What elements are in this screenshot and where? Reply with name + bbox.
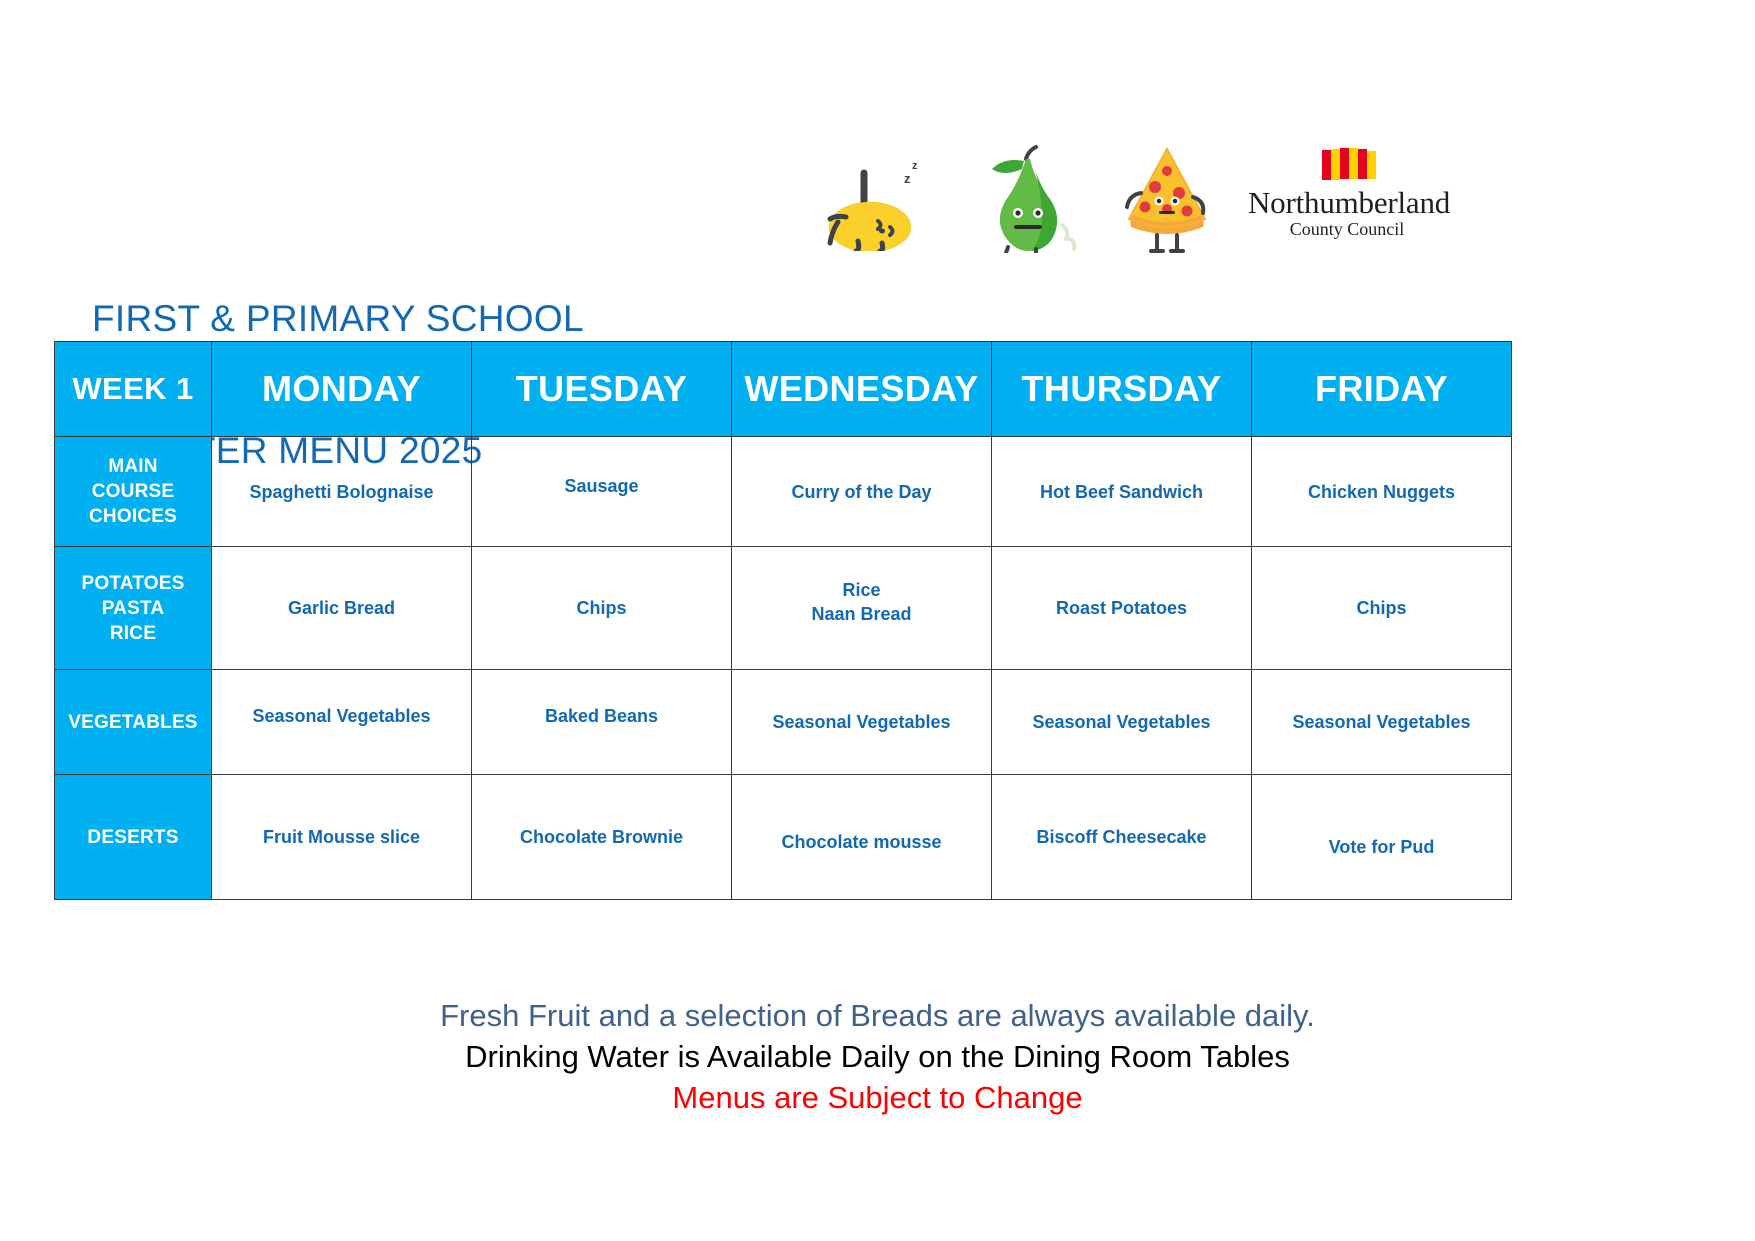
footer-note-subject-to-change: Menus are Subject to Change <box>0 1077 1755 1118</box>
cell-main-monday: Spaghetti Bolognaise <box>212 437 472 547</box>
row-label-main-course: MAIN COURSE CHOICES <box>55 437 212 547</box>
cell-veg-thursday: Seasonal Vegetables <box>992 670 1252 775</box>
row-label-potatoes-pasta-rice: POTATOES PASTA RICE <box>55 547 212 670</box>
header-day-tuesday: TUESDAY <box>472 342 732 437</box>
cell-carb-wednesday: Rice Naan Bread <box>732 541 992 664</box>
table-row-deserts: DESERTS Fruit Mousse slice Chocolate Bro… <box>55 775 1512 900</box>
cell-veg-friday: Seasonal Vegetables <box>1252 670 1512 775</box>
mascot-illustrations: z z <box>800 138 1220 253</box>
cell-pud-friday: Vote for Pud <box>1252 785 1512 910</box>
council-name: Northumberland <box>1248 186 1446 220</box>
cell-pud-wednesday: Chocolate mousse <box>732 780 992 905</box>
cell-carb-thursday: Roast Potatoes <box>992 547 1252 670</box>
table-row-potatoes-pasta-rice: POTATOES PASTA RICE Garlic Bread Chips R… <box>55 547 1512 670</box>
cell-main-friday: Chicken Nuggets <box>1252 437 1512 547</box>
header-day-wednesday: WEDNESDAY <box>732 342 992 437</box>
cell-main-thursday: Hot Beef Sandwich <box>992 437 1252 547</box>
cell-main-wednesday: Curry of the Day <box>732 437 992 547</box>
sleeping-potato-with-fork-icon: z z <box>808 139 928 251</box>
footer-note-fresh-fruit: Fresh Fruit and a selection of Breads ar… <box>0 995 1755 1036</box>
pear-character-icon <box>970 141 1082 253</box>
footer-notes: Fresh Fruit and a selection of Breads ar… <box>0 995 1755 1118</box>
cell-veg-wednesday: Seasonal Vegetables <box>732 670 992 775</box>
cell-pud-tuesday: Chocolate Brownie <box>472 775 732 900</box>
northumberland-county-council-logo: Northumberland County Council <box>1248 146 1446 242</box>
row-label-deserts: DESERTS <box>55 775 212 900</box>
weekly-menu-table: WEEK 1 MONDAY TUESDAY WEDNESDAY THURSDAY… <box>54 341 1512 900</box>
header-day-monday: MONDAY <box>212 342 472 437</box>
cell-pud-thursday: Biscoff Cheesecake <box>992 775 1252 900</box>
cell-carb-friday: Chips <box>1252 547 1512 670</box>
cell-main-tuesday: Sausage <box>472 431 732 541</box>
cell-veg-tuesday: Baked Beans <box>472 664 732 769</box>
council-subtitle: County Council <box>1248 219 1446 239</box>
cell-carb-monday: Garlic Bread <box>212 547 472 670</box>
page-header: FIRST & PRIMARY SCHOOL WINTER MENU 2025 … <box>0 0 1755 330</box>
table-row-main-course: MAIN COURSE CHOICES Spaghetti Bolognaise… <box>55 437 1512 547</box>
cell-carb-tuesday: Chips <box>472 547 732 670</box>
header-week-label: WEEK 1 <box>55 342 212 437</box>
svg-text:z: z <box>904 171 911 186</box>
header-day-thursday: THURSDAY <box>992 342 1252 437</box>
page-title-line-1: FIRST & PRIMARY SCHOOL <box>92 297 584 341</box>
row-label-vegetables: VEGETABLES <box>55 670 212 775</box>
header-day-friday: FRIDAY <box>1252 342 1512 437</box>
table-header-row: WEEK 1 MONDAY TUESDAY WEDNESDAY THURSDAY… <box>55 342 1512 437</box>
pizza-slice-character-icon <box>1115 141 1219 253</box>
cell-veg-monday: Seasonal Vegetables <box>212 664 472 769</box>
table-row-vegetables: VEGETABLES Seasonal Vegetables Baked Bea… <box>55 670 1512 775</box>
svg-text:z: z <box>912 160 918 172</box>
footer-note-drinking-water: Drinking Water is Available Daily on the… <box>0 1036 1755 1077</box>
cell-pud-monday: Fruit Mousse slice <box>212 775 472 900</box>
